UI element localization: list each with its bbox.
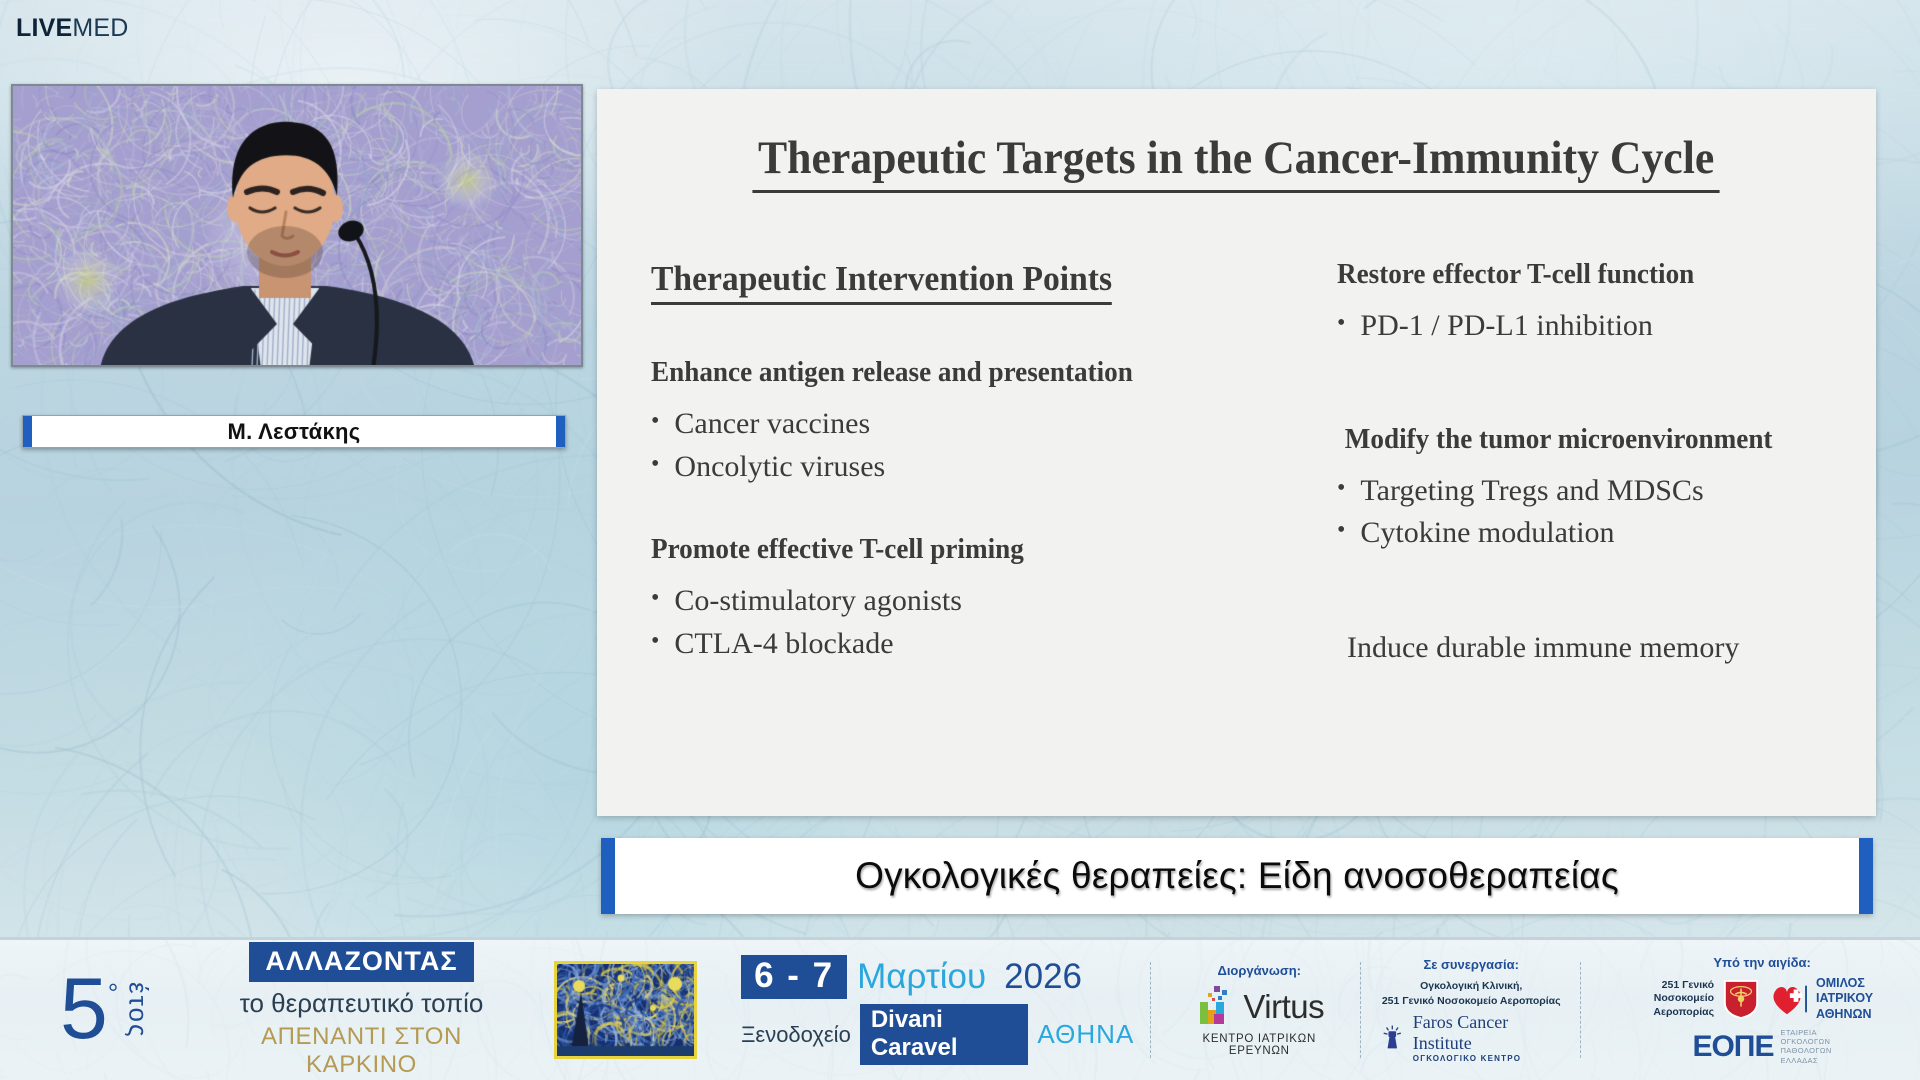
air-force-hospital-emblem-icon [1722, 977, 1760, 1021]
divider [1580, 962, 1582, 1058]
screen: LIVEMED Μ. Λεστάκης Therapeutic Targets … [0, 0, 1920, 1080]
organizer-label: Διοργάνωση: [1174, 963, 1344, 978]
speaker-nameplate: Μ. Λεστάκης [22, 415, 566, 448]
slogan-line-2: το θεραπευτικό τοπίο [209, 988, 513, 1019]
bullet-list-microenvironment: •Targeting Tregs and MDSCs •Cytokine mod… [1337, 470, 1866, 555]
auspices-block: Υπό την αιγίδα: 251 Γενικό Νοσοκομείο Αε… [1604, 955, 1920, 1065]
speaker-video[interactable] [11, 84, 583, 367]
eope-tagline: ΕΤΑΙΡΕΙΑ ΟΓΚΟΛΟΓΩΝ ΠΑΘΟΛΟΓΩΝ ΕΛΛΑΔΑΣ [1780, 1028, 1831, 1066]
cooperation-line-1: Ογκολογική Κλινική, [1378, 979, 1564, 993]
bullet-dot-icon: • [1337, 470, 1345, 513]
event-year: 2026 [1004, 957, 1082, 997]
spacer [651, 566, 1297, 580]
artwork-canvas [557, 964, 697, 1059]
spacer [651, 389, 1297, 403]
slide-left-column: Therapeutic Intervention Points Enhance … [597, 259, 1297, 816]
bullet-dot-icon: • [651, 446, 659, 489]
list-item: •Cancer vaccines [651, 403, 1297, 446]
virtus-wordmark: Virtus [1243, 988, 1324, 1026]
cooperation-label: Σε συνεργασία: [1378, 957, 1564, 972]
slogan-line-1: ΑΛΛΑΖΟΝΤΑΣ [249, 942, 473, 982]
bullet-text: CTLA-4 blockade [674, 623, 893, 666]
edition-year: 5 ° έτος [60, 973, 153, 1046]
spacer [1337, 601, 1866, 631]
slide-title-text: Therapeutic Targets in the Cancer-Immuni… [753, 131, 1720, 193]
bullet-text: Oncolytic viruses [674, 446, 885, 489]
list-item: •Co-stimulatory agonists [651, 580, 1297, 623]
left-column-heading: Therapeutic Intervention Points [651, 259, 1297, 305]
livemed-logo-med: MED [72, 14, 128, 42]
spacer [1337, 456, 1866, 470]
session-caption-text: Ογκολογικές θεραπείες: Είδη ανοσοθεραπεί… [855, 855, 1619, 897]
event-footer: 5 ° έτος ΑΛΛΑΖΟΝΤΑΣ το θεραπευτικό τοπίο… [0, 937, 1920, 1080]
speaker-video-frame [13, 86, 583, 367]
livemed-logo: LIVEMED [16, 14, 129, 43]
event-days: 6 - 7 [741, 955, 847, 999]
eope-wordmark: ΕΟΠΕ [1692, 1033, 1773, 1060]
livemed-logo-live: LIVE [16, 14, 72, 42]
faros-name: Faros Cancer Institute [1413, 1012, 1564, 1054]
divider [1150, 962, 1152, 1058]
bullet-list-antigen: •Cancer vaccines •Oncolytic viruses [651, 403, 1297, 488]
list-item: •CTLA-4 blockade [651, 623, 1297, 666]
slogan-line-3: ΑΠΕΝΑΝΤΙ ΣΤΟΝ ΚΑΡΚΙΝΟ [209, 1023, 513, 1079]
bullet-text: Cytokine modulation [1360, 512, 1614, 555]
event-date-block: 6 - 7 Μαρτίου 2026 Ξενοδοχείο Divani Car… [741, 955, 1134, 1065]
spacer [651, 311, 1297, 357]
bullet-dot-icon: • [651, 623, 659, 666]
list-item: •Cytokine modulation [1337, 512, 1866, 555]
bullet-text: Targeting Tregs and MDSCs [1360, 470, 1703, 513]
spacer [1337, 394, 1866, 424]
edition-number: 5 [60, 973, 106, 1046]
venue-city: ΑΘΗΝΑ [1037, 1019, 1134, 1050]
heart-cross-icon [1768, 979, 1808, 1019]
bullet-text: Cancer vaccines [674, 403, 870, 446]
event-slogan: ΑΛΛΑΖΟΝΤΑΣ το θεραπευτικό τοπίο ΑΠΕΝΑΝΤΙ… [209, 942, 513, 1079]
section-heading-priming: Promote effective T-cell priming [651, 534, 1278, 566]
session-caption-bar: Ογκολογικές θεραπείες: Είδη ανοσοθεραπεί… [601, 838, 1873, 914]
presentation-slide[interactable]: Therapeutic Targets in the Cancer-Immuni… [597, 89, 1876, 816]
lighthouse-icon [1378, 1022, 1407, 1052]
left-column-heading-text: Therapeutic Intervention Points [651, 259, 1112, 305]
hospital-line-1: 251 Γενικό Νοσοκομείο [1604, 979, 1714, 1006]
list-item: •Targeting Tregs and MDSCs [1337, 470, 1866, 513]
omilos-name: ΟΜΙΛΟΣ ΙΑΤΡΙΚΟΥ ΑΘΗΝΩΝ [1816, 976, 1920, 1023]
speaker-name: Μ. Λεστάκης [227, 419, 360, 445]
event-artwork-thumbnail [554, 961, 697, 1059]
right-column-footer-line: Induce durable immune memory [1337, 631, 1866, 665]
section-heading-antigen: Enhance antigen release and presentation [651, 357, 1278, 389]
auspices-label: Υπό την αιγίδα: [1604, 955, 1920, 970]
eope-tagline-4: ΕΛΛΑΔΑΣ [1780, 1056, 1831, 1065]
event-month: Μαρτίου [857, 957, 986, 997]
organizer-block: Διοργάνωση: Virtus ΚΕΝΤΡΟ ΙΑΤΡΙΚΩΝ ΕΡΕΥΝ… [1174, 963, 1344, 1057]
eope-tagline-3: ΠΑΘΟΛΟΓΩΝ [1780, 1046, 1831, 1055]
edition-degree-symbol: ° [108, 978, 118, 1009]
bullet-text: Co-stimulatory agonists [674, 580, 962, 623]
bullet-dot-icon: • [1337, 512, 1345, 555]
spacer [651, 488, 1297, 534]
bullet-list-restore: •PD-1 / PD-L1 inhibition [1337, 305, 1866, 348]
cooperation-block: Σε συνεργασία: Ογκολογική Κλινική, 251 Γ… [1378, 957, 1564, 1062]
virtus-mark-icon [1194, 984, 1240, 1030]
edition-label: έτος [122, 982, 153, 1038]
section-heading-restore: Restore effector T-cell function [1337, 259, 1850, 291]
list-item: •Oncolytic viruses [651, 446, 1297, 489]
venue-label: Ξενοδοχείο [741, 1022, 851, 1048]
omilos-line-2: ΑΘΗΝΩΝ [1816, 1007, 1920, 1023]
hospital-name: 251 Γενικό Νοσοκομείο Αεροπορίας [1604, 979, 1714, 1020]
venue-name: Divani Caravel [860, 1004, 1029, 1065]
spacer [1337, 348, 1866, 394]
slide-title: Therapeutic Targets in the Cancer-Immuni… [597, 131, 1876, 193]
eope-tagline-1: ΕΤΑΙΡΕΙΑ [1780, 1028, 1831, 1037]
divider [1360, 962, 1362, 1058]
slide-columns: Therapeutic Intervention Points Enhance … [597, 259, 1876, 816]
eope-tagline-2: ΟΓΚΟΛΟΓΩΝ [1780, 1037, 1831, 1046]
slide-right-column: Restore effector T-cell function •PD-1 /… [1297, 259, 1876, 816]
auspices-row-2: ΕΟΠΕ ΕΤΑΙΡΕΙΑ ΟΓΚΟΛΟΓΩΝ ΠΑΘΟΛΟΓΩΝ ΕΛΛΑΔΑ… [1604, 1028, 1920, 1066]
spacer [1337, 291, 1866, 305]
section-heading-microenvironment: Modify the tumor microenvironment [1337, 424, 1850, 456]
cooperation-line-2: 251 Γενικό Νοσοκομείο Αεροπορίας [1378, 994, 1564, 1008]
bullet-text: PD-1 / PD-L1 inhibition [1360, 305, 1653, 348]
faros-logo: Faros Cancer Institute ΟΓΚΟΛΟΓΙΚΟ ΚΕΝΤΡΟ [1378, 1012, 1564, 1063]
bullet-dot-icon: • [1337, 305, 1345, 348]
auspices-row-1: 251 Γενικό Νοσοκομείο Αεροπορίας ΟΜΙΛΟΣ … [1604, 976, 1920, 1023]
virtus-tagline: ΚΕΝΤΡΟ ΙΑΤΡΙΚΩΝ ΕΡΕΥΝΩΝ [1174, 1033, 1344, 1057]
omilos-line-1: ΟΜΙΛΟΣ ΙΑΤΡΙΚΟΥ [1816, 976, 1920, 1007]
list-item: •PD-1 / PD-L1 inhibition [1337, 305, 1866, 348]
spacer [1337, 555, 1866, 601]
hospital-line-2: Αεροπορίας [1604, 1006, 1714, 1020]
faros-tagline: ΟΓΚΟΛΟΓΙΚΟ ΚΕΝΤΡΟ [1413, 1054, 1564, 1063]
virtus-logo: Virtus [1174, 984, 1344, 1030]
venue-row: Ξενοδοχείο Divani Caravel ΑΘΗΝΑ [741, 1004, 1134, 1065]
bullet-dot-icon: • [651, 403, 659, 446]
date-row: 6 - 7 Μαρτίου 2026 [741, 955, 1134, 999]
bullet-dot-icon: • [651, 580, 659, 623]
bullet-list-priming: •Co-stimulatory agonists •CTLA-4 blockad… [651, 580, 1297, 665]
